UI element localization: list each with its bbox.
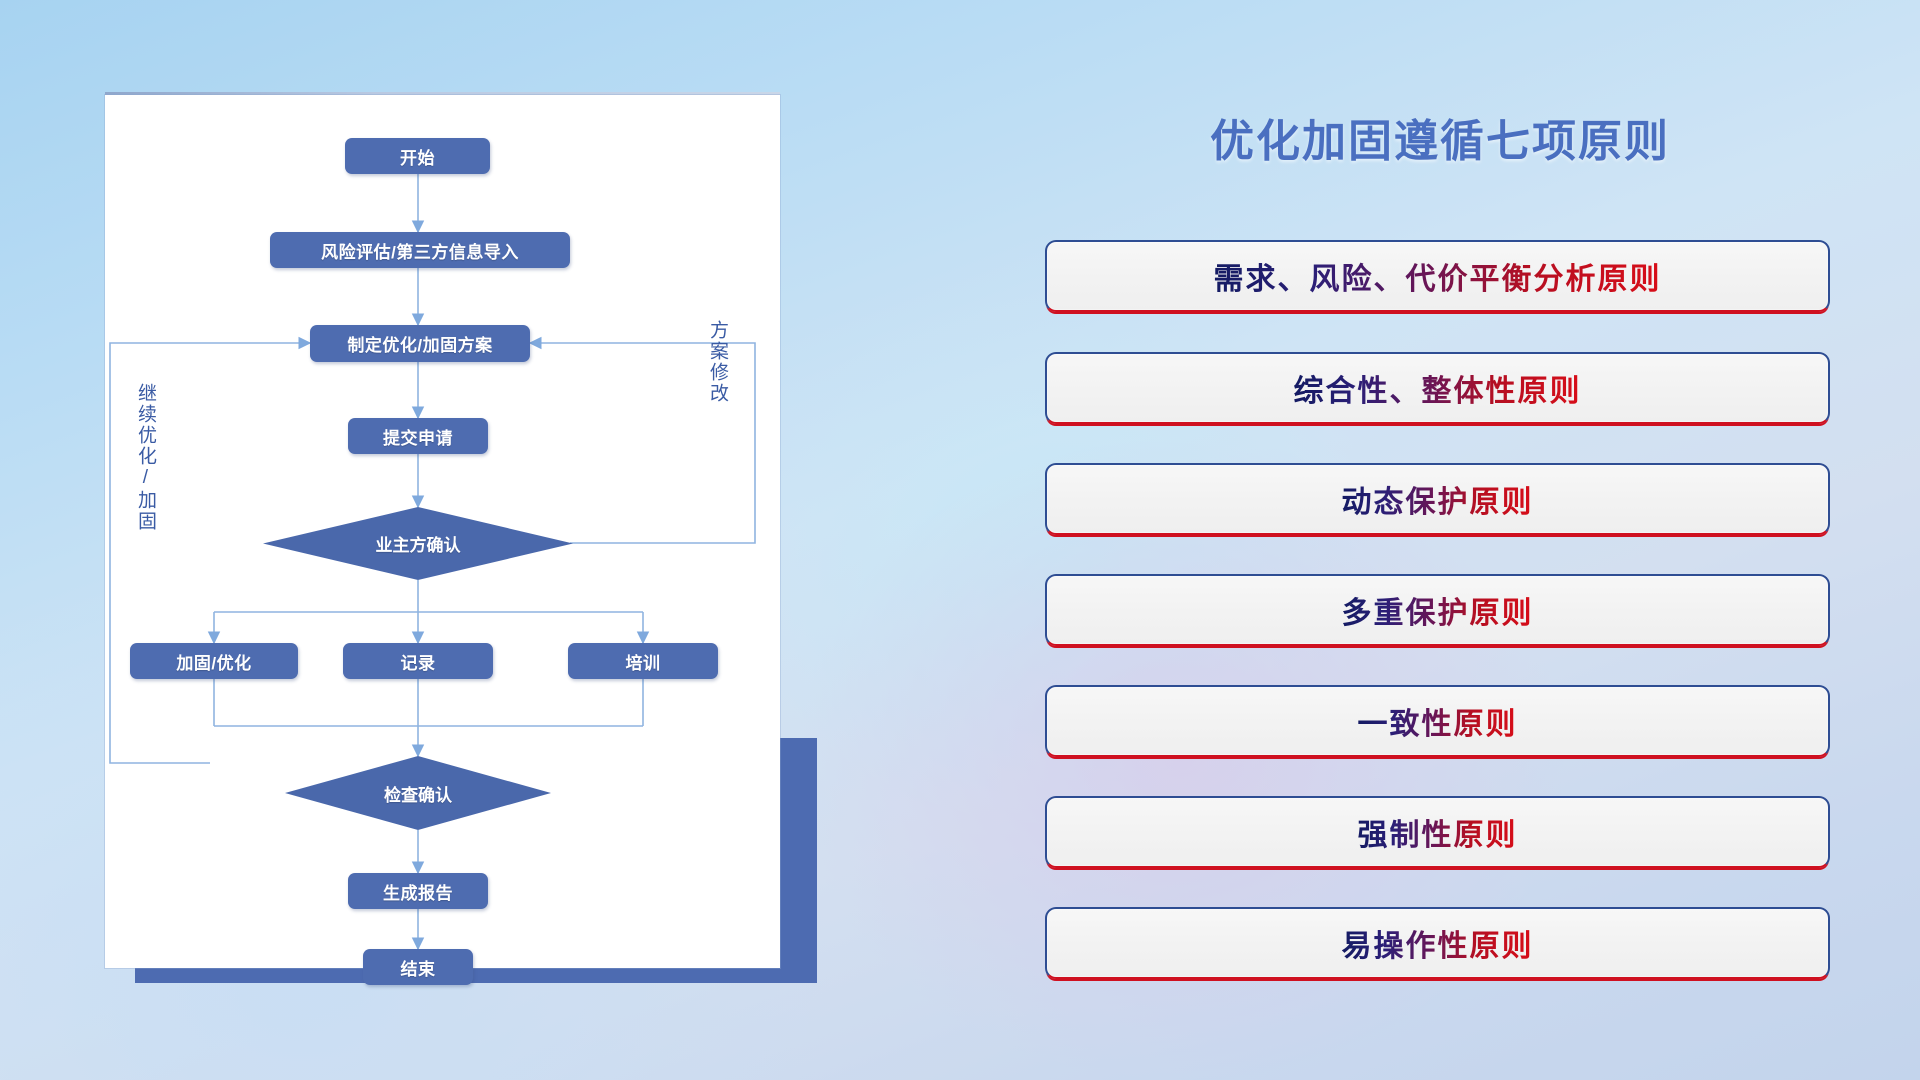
principle-label: 需求、风险、代价平衡分析原则 bbox=[1214, 254, 1662, 298]
flowchart-card: 开始 风险评估/第三方信息导入 制定优化/加固方案 提交申请 业主方确认 加固/… bbox=[105, 95, 780, 968]
flow-node-label: 制定优化/加固方案 bbox=[347, 331, 492, 356]
flow-node-end[interactable]: 结束 bbox=[363, 949, 473, 985]
principle-label: 一致性原则 bbox=[1358, 699, 1518, 743]
flow-node-record[interactable]: 记录 bbox=[343, 643, 493, 679]
flow-decision-inspection-confirm[interactable]: 检查确认 bbox=[285, 756, 551, 830]
principle-card[interactable]: 需求、风险、代价平衡分析原则 bbox=[1045, 240, 1830, 312]
flow-edge-label-continue-optimize: 继续优化/加固 bbox=[135, 383, 155, 532]
flow-node-label: 风险评估/第三方信息导入 bbox=[321, 238, 519, 263]
principle-card[interactable]: 易操作性原则 bbox=[1045, 907, 1830, 979]
flow-node-label: 检查确认 bbox=[384, 781, 452, 806]
principles-panel: 优化加固遵循七项原则 需求、风险、代价平衡分析原则 综合性、整体性原则 动态保护… bbox=[1020, 0, 1860, 1080]
principle-card[interactable]: 多重保护原则 bbox=[1045, 574, 1830, 646]
flow-node-label: 业主方确认 bbox=[376, 531, 461, 556]
principle-label: 综合性、整体性原则 bbox=[1294, 366, 1582, 410]
principle-label: 强制性原则 bbox=[1358, 810, 1518, 854]
flow-node-label: 生成报告 bbox=[383, 879, 453, 904]
principle-card[interactable]: 综合性、整体性原则 bbox=[1045, 352, 1830, 424]
principle-label: 多重保护原则 bbox=[1342, 588, 1534, 632]
page-title: 优化加固遵循七项原则 bbox=[1020, 105, 1860, 169]
flow-node-submit-application[interactable]: 提交申请 bbox=[348, 418, 488, 454]
flow-node-training[interactable]: 培训 bbox=[568, 643, 718, 679]
flow-node-label: 加固/优化 bbox=[176, 649, 251, 674]
principle-label: 易操作性原则 bbox=[1342, 921, 1534, 965]
flow-decision-owner-confirm[interactable]: 业主方确认 bbox=[263, 507, 573, 580]
flow-node-label: 培训 bbox=[626, 649, 661, 674]
flow-node-generate-report[interactable]: 生成报告 bbox=[348, 873, 488, 909]
flow-edge-label-plan-revision: 方案修改 bbox=[707, 320, 727, 404]
flow-node-label: 记录 bbox=[401, 649, 436, 674]
slide-root: 开始 风险评估/第三方信息导入 制定优化/加固方案 提交申请 业主方确认 加固/… bbox=[0, 0, 1920, 1080]
flow-node-plan[interactable]: 制定优化/加固方案 bbox=[310, 325, 530, 362]
flow-node-risk-assessment[interactable]: 风险评估/第三方信息导入 bbox=[270, 232, 570, 268]
principle-card[interactable]: 动态保护原则 bbox=[1045, 463, 1830, 535]
principle-card[interactable]: 一致性原则 bbox=[1045, 685, 1830, 757]
flow-node-label: 开始 bbox=[400, 144, 435, 169]
principle-label: 动态保护原则 bbox=[1342, 477, 1534, 521]
flow-node-reinforce[interactable]: 加固/优化 bbox=[130, 643, 298, 679]
flow-node-start[interactable]: 开始 bbox=[345, 138, 490, 174]
flow-node-label: 提交申请 bbox=[383, 424, 453, 449]
principle-card[interactable]: 强制性原则 bbox=[1045, 796, 1830, 868]
flow-node-label: 结束 bbox=[401, 955, 436, 980]
